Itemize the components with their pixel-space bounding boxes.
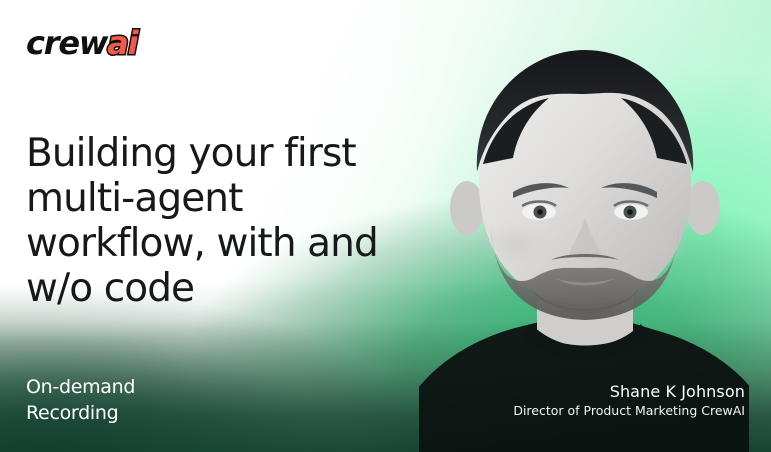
page-title: Building your first multi-agent workflow…: [26, 131, 398, 311]
logo-text-crew: crew: [26, 24, 107, 62]
logo-text-ai: ai: [107, 24, 137, 62]
webinar-promo-card: crewai Building your first multi-agent w…: [0, 0, 771, 452]
on-demand-line-2: Recording: [26, 400, 135, 426]
speaker-title: Director of Product Marketing CrewAI: [513, 402, 745, 419]
speaker-name: Shane K Johnson: [513, 382, 745, 402]
speaker-credit: Shane K Johnson Director of Product Mark…: [513, 382, 745, 419]
on-demand-line-1: On-demand: [26, 374, 135, 400]
on-demand-recording-label: On-demand Recording: [26, 374, 135, 426]
crewai-logo[interactable]: crewai: [26, 27, 137, 59]
